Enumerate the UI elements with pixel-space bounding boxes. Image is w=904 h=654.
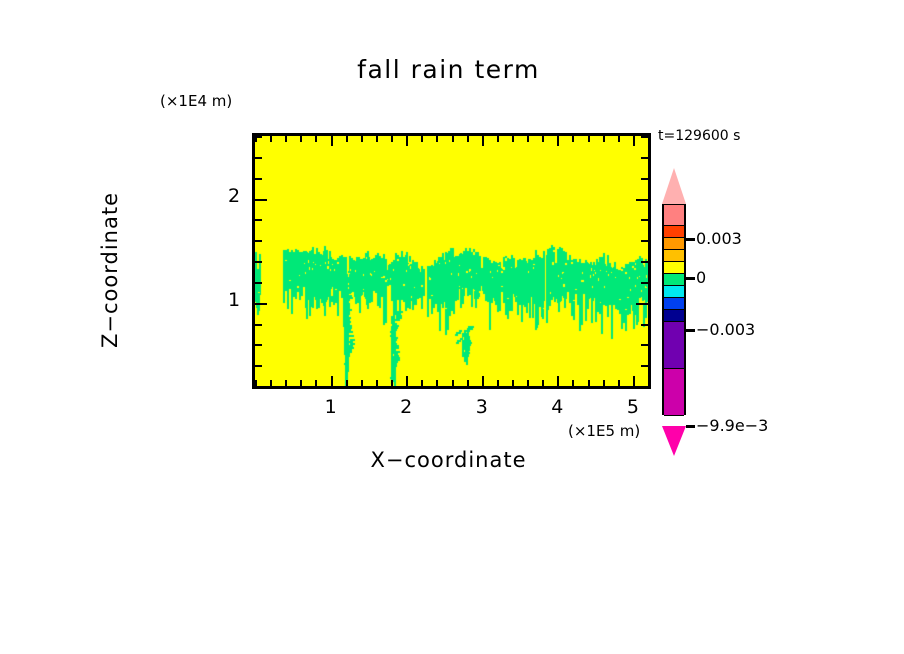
x-major-tick bbox=[633, 376, 635, 386]
x-minor-tick bbox=[588, 380, 590, 386]
x-major-tick-top bbox=[482, 136, 484, 146]
x-minor-tick bbox=[512, 380, 514, 386]
x-minor-tick-top bbox=[421, 136, 423, 142]
x-minor-tick-top bbox=[452, 136, 454, 142]
colorbar-bands bbox=[662, 204, 686, 415]
x-minor-tick-top bbox=[285, 136, 287, 142]
x-minor-tick-top bbox=[527, 136, 529, 142]
x-minor-tick bbox=[648, 380, 650, 386]
x-minor-tick bbox=[391, 380, 393, 386]
colorbar-tick-mark bbox=[686, 277, 695, 280]
x-minor-tick-top bbox=[542, 136, 544, 142]
colorbar-band bbox=[664, 368, 684, 416]
y-minor-tick bbox=[255, 386, 262, 388]
x-major-tick-top bbox=[633, 136, 635, 146]
colorbar-tick-mark bbox=[686, 238, 695, 241]
x-minor-tick bbox=[542, 380, 544, 386]
y-minor-tick bbox=[255, 344, 262, 346]
y-axis-units-label: (×1E4 m) bbox=[160, 92, 232, 110]
x-minor-tick bbox=[467, 380, 469, 386]
x-major-tick-top bbox=[406, 136, 408, 146]
x-minor-tick-top bbox=[497, 136, 499, 142]
x-minor-tick bbox=[346, 380, 348, 386]
figure-canvas: fall rain term (×1E4 m) t=129600 s 12345… bbox=[0, 0, 904, 654]
x-minor-tick bbox=[361, 380, 363, 386]
y-minor-tick bbox=[255, 219, 262, 221]
page-title: fall rain term bbox=[252, 55, 645, 84]
x-minor-tick-top bbox=[467, 136, 469, 142]
x-minor-tick bbox=[436, 380, 438, 386]
y-minor-tick bbox=[255, 365, 262, 367]
x-minor-tick bbox=[527, 380, 529, 386]
x-tick-label: 1 bbox=[325, 396, 337, 418]
x-minor-tick-top bbox=[346, 136, 348, 142]
y-minor-tick-right bbox=[641, 261, 648, 263]
colorbar-tick-label: −0.003 bbox=[696, 320, 755, 339]
colorbar-tick-mark bbox=[686, 329, 695, 332]
colorbar-band bbox=[664, 321, 684, 369]
x-minor-tick bbox=[315, 380, 317, 386]
x-minor-tick-top bbox=[436, 136, 438, 142]
x-major-tick bbox=[557, 376, 559, 386]
y-minor-tick-right bbox=[641, 365, 648, 367]
y-minor-tick-right bbox=[641, 240, 648, 242]
x-major-tick-top bbox=[557, 136, 559, 146]
x-axis-units-label: (×1E5 m) bbox=[568, 422, 640, 440]
x-minor-tick-top bbox=[300, 136, 302, 142]
x-axis-title: X−coordinate bbox=[252, 448, 645, 472]
x-minor-tick bbox=[497, 380, 499, 386]
x-minor-tick bbox=[421, 380, 423, 386]
x-tick-label: 2 bbox=[400, 396, 412, 418]
y-minor-tick-right bbox=[641, 178, 648, 180]
colorbar-top-arrow-icon bbox=[662, 168, 686, 204]
y-axis-title: Z−coordinate bbox=[98, 120, 122, 420]
colorbar-tick-label: 0.003 bbox=[696, 229, 742, 248]
x-minor-tick-top bbox=[572, 136, 574, 142]
x-minor-tick bbox=[603, 380, 605, 386]
x-major-tick-top bbox=[331, 136, 333, 146]
x-minor-tick bbox=[300, 380, 302, 386]
heatmap-data-layer bbox=[255, 136, 648, 386]
y-minor-tick-right bbox=[641, 386, 648, 388]
y-major-tick-right bbox=[636, 199, 648, 201]
y-minor-tick bbox=[255, 324, 262, 326]
y-minor-tick bbox=[255, 261, 262, 263]
x-minor-tick bbox=[270, 380, 272, 386]
x-minor-tick-top bbox=[361, 136, 363, 142]
x-minor-tick-top bbox=[512, 136, 514, 142]
y-major-tick bbox=[255, 303, 267, 305]
x-major-tick bbox=[331, 376, 333, 386]
x-minor-tick-top bbox=[376, 136, 378, 142]
y-minor-tick-right bbox=[641, 136, 648, 138]
y-minor-tick-right bbox=[641, 219, 648, 221]
y-minor-tick-right bbox=[641, 324, 648, 326]
x-minor-tick bbox=[452, 380, 454, 386]
x-minor-tick-top bbox=[315, 136, 317, 142]
y-minor-tick-right bbox=[641, 282, 648, 284]
y-minor-tick bbox=[255, 282, 262, 284]
y-minor-tick bbox=[255, 240, 262, 242]
x-major-tick bbox=[406, 376, 408, 386]
x-minor-tick bbox=[572, 380, 574, 386]
y-major-tick-right bbox=[636, 303, 648, 305]
y-minor-tick bbox=[255, 157, 262, 159]
x-minor-tick-top bbox=[270, 136, 272, 142]
x-minor-tick-top bbox=[648, 136, 650, 142]
x-minor-tick bbox=[618, 380, 620, 386]
y-minor-tick-right bbox=[641, 344, 648, 346]
x-major-tick bbox=[482, 376, 484, 386]
colorbar-band bbox=[664, 204, 684, 226]
y-tick-label: 1 bbox=[228, 289, 240, 311]
time-annotation: t=129600 s bbox=[658, 128, 740, 144]
x-minor-tick-top bbox=[618, 136, 620, 142]
x-minor-tick-top bbox=[391, 136, 393, 142]
x-minor-tick bbox=[285, 380, 287, 386]
colorbar-tick-label: 0 bbox=[696, 268, 706, 287]
colorbar-tick-mark bbox=[686, 425, 695, 428]
x-minor-tick-top bbox=[603, 136, 605, 142]
x-tick-label: 4 bbox=[551, 396, 563, 418]
x-minor-tick bbox=[376, 380, 378, 386]
colorbar-bottom-arrow-icon bbox=[662, 426, 686, 456]
plot-area bbox=[252, 133, 651, 389]
x-tick-label: 5 bbox=[627, 396, 639, 418]
x-minor-tick-top bbox=[588, 136, 590, 142]
y-minor-tick bbox=[255, 178, 262, 180]
colorbar-tick-label: −9.9e−3 bbox=[696, 416, 768, 435]
y-major-tick bbox=[255, 199, 267, 201]
y-minor-tick bbox=[255, 136, 262, 138]
y-tick-label: 2 bbox=[228, 185, 240, 207]
y-minor-tick-right bbox=[641, 157, 648, 159]
x-tick-label: 3 bbox=[476, 396, 488, 418]
